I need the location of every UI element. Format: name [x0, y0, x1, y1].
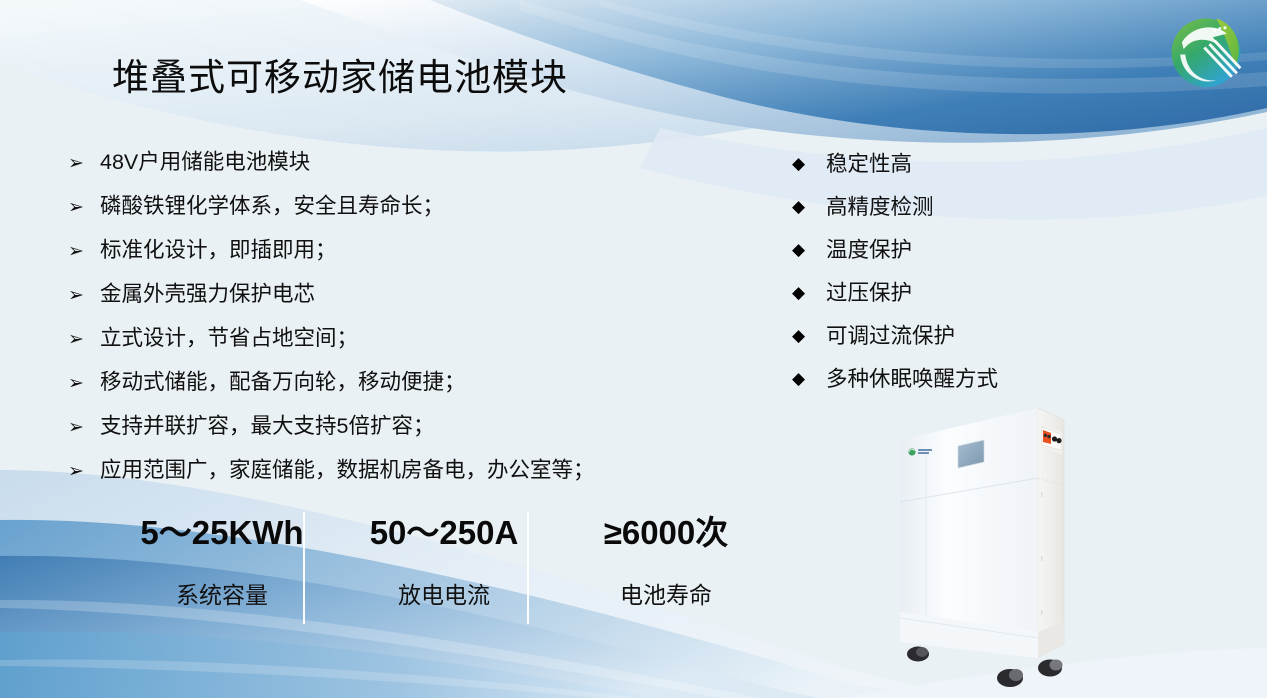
list-item-label: 48V户用储能电池模块: [100, 148, 310, 176]
list-item-label: 立式设计，节省占地空间；: [100, 324, 358, 352]
diamond-bullet-icon: ◆: [792, 365, 826, 393]
arrow-bullet-icon: ➢: [68, 324, 100, 353]
list-item-label: 标准化设计，即插即用；: [100, 236, 337, 264]
list-item-label: 高精度检测: [826, 193, 934, 221]
list-item-label: 移动式储能，配备万向轮，移动便捷；: [100, 368, 466, 396]
arrow-bullet-icon: ➢: [68, 412, 100, 441]
spec-item-current: 50〜250A 放电电流: [344, 512, 544, 612]
spec-divider: [303, 512, 305, 624]
list-item: ◆ 稳定性高: [792, 150, 1092, 193]
list-item: ➢ 金属外壳强力保护电芯: [68, 280, 758, 324]
list-item-label: 应用范围广，家庭储能，数据机房备电，办公室等；: [100, 456, 595, 484]
diamond-bullet-icon: ◆: [792, 236, 826, 264]
diamond-bullet-icon: ◆: [792, 150, 826, 178]
diamond-bullet-icon: ◆: [792, 322, 826, 350]
list-item-label: 磷酸铁锂化学体系，安全且寿命长；: [100, 192, 444, 220]
arrow-bullet-icon: ➢: [68, 148, 100, 177]
slide-root: 堆叠式可移动家储电池模块 ➢ 48V户用储能电池模块 ➢ 磷酸铁锂化学体系，安全…: [0, 0, 1267, 698]
spec-value: 50〜250A: [344, 512, 544, 554]
list-item-label: 稳定性高: [826, 150, 912, 178]
list-item: ➢ 磷酸铁锂化学体系，安全且寿命长；: [68, 192, 758, 236]
spec-highlights: 5〜25KWh 系统容量 50〜250A 放电电流 ≥6000次 电池寿命: [96, 512, 776, 624]
list-item-label: 可调过流保护: [826, 322, 955, 350]
arrow-bullet-icon: ➢: [68, 236, 100, 265]
spec-value: 5〜25KWh: [122, 512, 322, 554]
spec-item-capacity: 5〜25KWh 系统容量: [122, 512, 322, 612]
arrow-bullet-icon: ➢: [68, 368, 100, 397]
list-item: ➢ 立式设计，节省占地空间；: [68, 324, 758, 368]
feature-list-left: ➢ 48V户用储能电池模块 ➢ 磷酸铁锂化学体系，安全且寿命长； ➢ 标准化设计…: [68, 148, 758, 500]
spec-value: ≥6000次: [566, 512, 766, 554]
list-item: ◆ 高精度检测: [792, 193, 1092, 236]
list-item: ➢ 标准化设计，即插即用；: [68, 236, 758, 280]
spec-item-cycle-life: ≥6000次 电池寿命: [566, 512, 766, 612]
list-item-label: 支持并联扩容，最大支持5倍扩容；: [100, 412, 434, 440]
spec-divider: [527, 512, 529, 624]
diamond-bullet-icon: ◆: [792, 193, 826, 221]
spec-label: 放电电流: [344, 578, 544, 612]
company-logo-icon: [1163, 8, 1249, 94]
list-item: ◆ 可调过流保护: [792, 322, 1092, 365]
list-item: ◆ 过压保护: [792, 279, 1092, 322]
feature-list-right: ◆ 稳定性高 ◆ 高精度检测 ◆ 温度保护 ◆ 过压保护 ◆ 可调过流保护 ◆ …: [792, 150, 1092, 408]
arrow-bullet-icon: ➢: [68, 280, 100, 309]
spec-label: 电池寿命: [566, 578, 766, 612]
list-item: ◆ 温度保护: [792, 236, 1092, 279]
list-item: ➢ 应用范围广，家庭储能，数据机房备电，办公室等；: [68, 456, 758, 500]
arrow-bullet-icon: ➢: [68, 456, 100, 485]
list-item-label: 过压保护: [826, 279, 912, 307]
list-item-label: 多种休眠唤醒方式: [826, 365, 998, 393]
list-item: ➢ 移动式储能，配备万向轮，移动便捷；: [68, 368, 758, 412]
arrow-bullet-icon: ➢: [68, 192, 100, 221]
spec-label: 系统容量: [122, 578, 322, 612]
list-item: ➢ 支持并联扩容，最大支持5倍扩容；: [68, 412, 758, 456]
diamond-bullet-icon: ◆: [792, 279, 826, 307]
page-title: 堆叠式可移动家储电池模块: [112, 54, 568, 102]
list-item-label: 金属外壳强力保护电芯: [100, 280, 315, 308]
product-image: [878, 396, 1118, 696]
list-item: ➢ 48V户用储能电池模块: [68, 148, 758, 192]
list-item-label: 温度保护: [826, 236, 912, 264]
